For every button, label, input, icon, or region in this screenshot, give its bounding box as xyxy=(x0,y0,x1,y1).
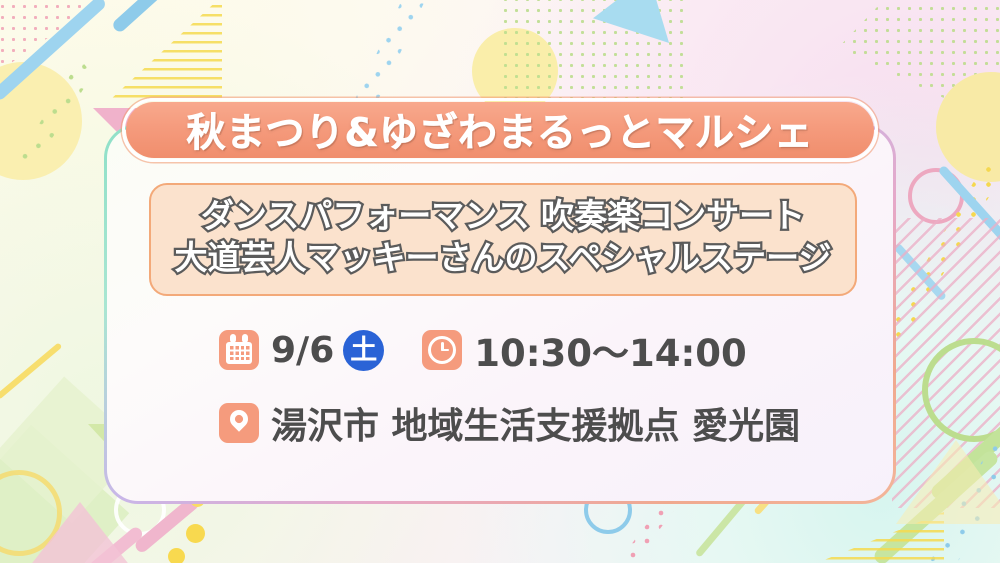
event-card: ダンスパフォーマンス 吹奏楽コンサート 大道芸人マッキーさんのスペシャルステージ… xyxy=(104,124,896,504)
program-subtitle-line-2: 大道芸人マッキーさんのスペシャルステージ xyxy=(151,237,855,280)
weekday-badge: 土 xyxy=(343,330,384,371)
event-title: 秋まつり&ゆざわまるっとマルシェ xyxy=(186,102,813,158)
program-subtitle-box: ダンスパフォーマンス 吹奏楽コンサート 大道芸人マッキーさんのスペシャルステージ xyxy=(149,183,857,296)
map-pin-icon xyxy=(219,403,259,443)
deco-pink-triangle-bl xyxy=(22,502,138,563)
event-details: 9/6 土 10:30〜14:00 湯沢市 地域生活支援拠点 愛光園 xyxy=(107,323,893,449)
date-time-row: 9/6 土 10:30〜14:00 xyxy=(219,323,747,377)
event-card-inner: ダンスパフォーマンス 吹奏楽コンサート 大道芸人マッキーさんのスペシャルステージ… xyxy=(107,127,893,501)
title-banner: 秋まつり&ゆざわまるっとマルシェ xyxy=(122,98,878,162)
event-venue: 湯沢市 地域生活支援拠点 愛光園 xyxy=(271,397,800,449)
clock-icon xyxy=(422,330,462,370)
slide-canvas: ダンスパフォーマンス 吹奏楽コンサート 大道芸人マッキーさんのスペシャルステージ… xyxy=(0,0,1000,563)
deco-yellow-dot-bl-1 xyxy=(186,524,205,543)
program-subtitle-line-1: ダンスパフォーマンス 吹奏楽コンサート xyxy=(151,195,855,238)
deco-yellow-triangle-br xyxy=(896,440,1000,524)
calendar-icon xyxy=(219,330,259,370)
venue-row: 湯沢市 地域生活支援拠点 愛光園 xyxy=(219,397,800,449)
event-time: 10:30〜14:00 xyxy=(474,323,747,377)
event-date: 9/6 xyxy=(271,330,334,371)
deco-yellow-dot-bl-2 xyxy=(168,548,185,563)
title-banner-fill: 秋まつり&ゆざわまるっとマルシェ xyxy=(126,102,874,158)
